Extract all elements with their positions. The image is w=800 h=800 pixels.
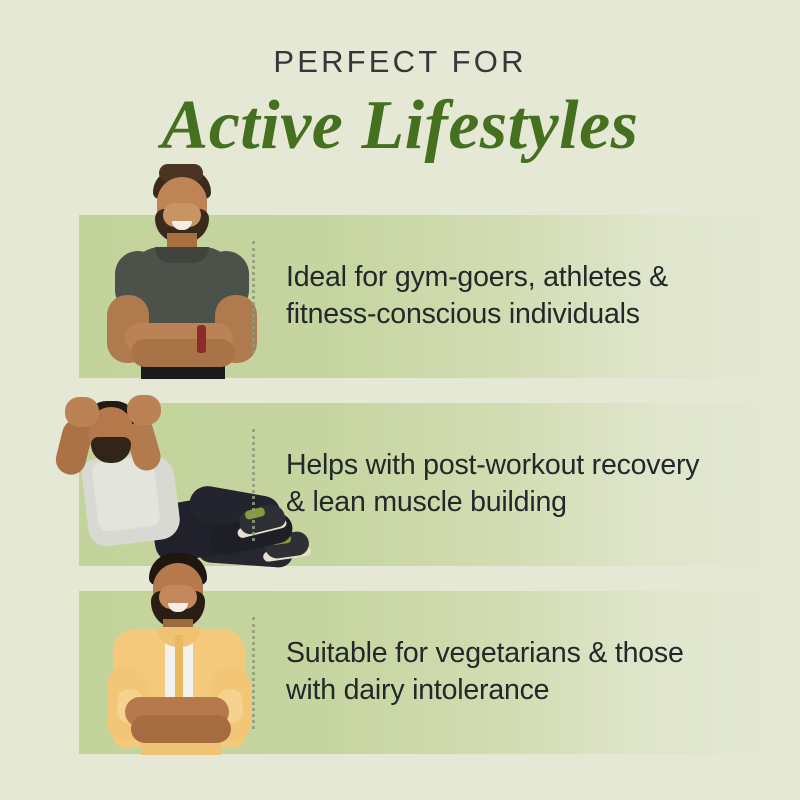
hand-left-shape bbox=[65, 397, 99, 427]
post-workout-photo bbox=[79, 351, 279, 566]
forearm-lower-shape bbox=[131, 715, 231, 743]
dotted-divider bbox=[252, 241, 255, 353]
benefit-card: Suitable for vegetarians & those with da… bbox=[79, 591, 769, 754]
benefit-text: Suitable for vegetarians & those with da… bbox=[286, 635, 706, 711]
page-title: Active Lifestyles bbox=[0, 91, 800, 161]
kicker-text: PERFECT FOR bbox=[0, 46, 800, 77]
hand-right-shape bbox=[127, 395, 161, 425]
collar-shape bbox=[155, 247, 209, 263]
vegetarian-photo bbox=[79, 539, 279, 754]
benefit-text: Ideal for gym-goers, athletes & fitness-… bbox=[286, 259, 706, 335]
benefit-text: Helps with post-workout recovery & lean … bbox=[286, 447, 706, 523]
benefit-card-list: Ideal for gym-goers, athletes & fitness-… bbox=[0, 215, 800, 779]
dotted-divider bbox=[252, 429, 255, 541]
header: PERFECT FOR Active Lifestyles bbox=[0, 0, 800, 161]
gym-goer-photo bbox=[79, 163, 279, 378]
wristband-shape bbox=[197, 325, 206, 353]
dotted-divider bbox=[252, 617, 255, 729]
